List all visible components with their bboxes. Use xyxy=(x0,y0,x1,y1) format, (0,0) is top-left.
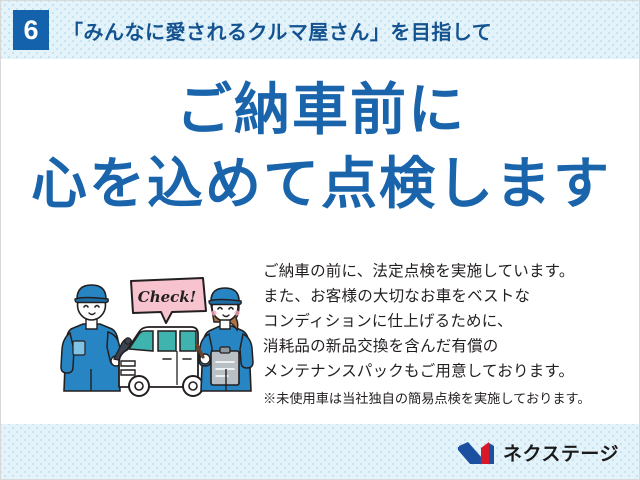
body-line-5: メンテナンスパックもご用意しております。 xyxy=(263,363,574,380)
clipboard-icon xyxy=(211,347,239,385)
headline-line-2: 心を込めて点検します xyxy=(1,151,640,217)
body-line-3: コンディションに仕上げるために、 xyxy=(263,313,513,330)
body-line-1: ご納車の前に、法定点検を実施しています。 xyxy=(263,263,575,280)
mechanics-van-illustration: Check! xyxy=(59,269,259,404)
headline-line-1: ご納車前に xyxy=(1,77,640,143)
page-title: ご納車前に 心を込めて点検します xyxy=(1,77,640,217)
illustration-svg: Check! xyxy=(59,269,259,404)
header-band: 6 「みんなに愛されるクルマ屋さん」を目指して xyxy=(1,1,640,59)
check-speech-bubble: Check! xyxy=(131,278,206,323)
nextstage-n-icon xyxy=(456,440,496,466)
brand-name: ネクステージ xyxy=(503,439,619,466)
body-note: ※未使用車は当社独自の簡易点検を実施しております。 xyxy=(263,388,635,409)
body-line-2: また、お客様の大切なお車をベストな xyxy=(263,288,530,305)
speech-bubble-text: Check! xyxy=(138,288,197,306)
header-title: 「みんなに愛されるクルマ屋さん」を目指して xyxy=(63,16,492,45)
promo-panel: 6 「みんなに愛されるクルマ屋さん」を目指して ご納車前に 心を込めて点検します xyxy=(0,0,640,480)
description-text: ご納車の前に、法定点検を実施しています。 また、お客様の大切なお車をベストな コ… xyxy=(263,259,635,409)
brand-logo: ネクステージ xyxy=(456,439,619,466)
footer-band: ネクステージ xyxy=(1,424,640,480)
van-illustration xyxy=(119,327,203,396)
body-line-4: 消耗品の新品交換を含んだ有償の xyxy=(263,338,499,355)
section-number-badge: 6 xyxy=(13,10,49,50)
